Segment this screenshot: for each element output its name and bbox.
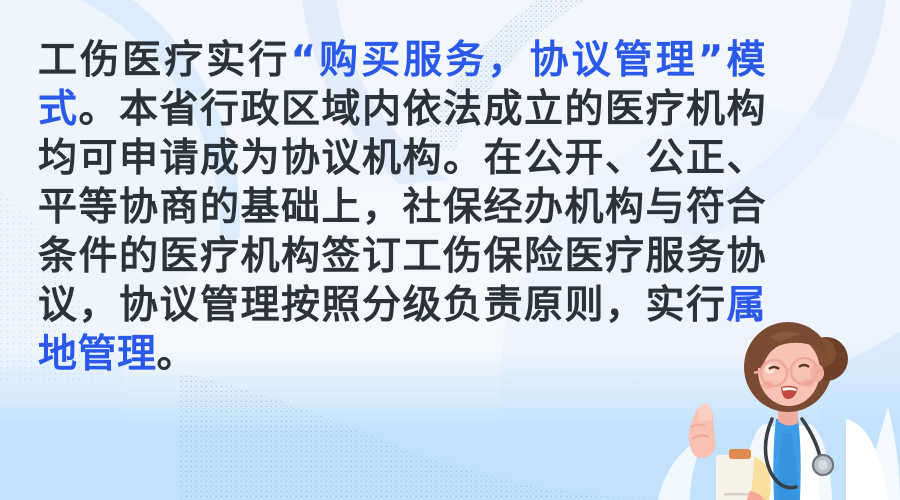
cheek-right bbox=[802, 379, 814, 387]
clipboard-clip bbox=[729, 449, 751, 459]
paragraph-segment-plain-2: 。本省行政区域内依法成立的医疗机构均可申请成为协议机构。在公开、公正、平等协商的… bbox=[38, 87, 766, 328]
pointing-hand bbox=[689, 403, 716, 458]
poster-canvas: 工伤医疗实行“购买服务，协议管理”模式。本省行政区域内依法成立的医疗机构均可申请… bbox=[0, 0, 900, 500]
stethoscope-diaphragm bbox=[818, 460, 828, 470]
paragraph-segment-plain-1: 工伤医疗实行 bbox=[38, 38, 290, 83]
index-finger bbox=[698, 403, 712, 422]
cheek-left bbox=[762, 381, 774, 389]
paragraph-segment-plain-3: 。 bbox=[157, 332, 197, 377]
doctor-illustration bbox=[650, 315, 900, 500]
